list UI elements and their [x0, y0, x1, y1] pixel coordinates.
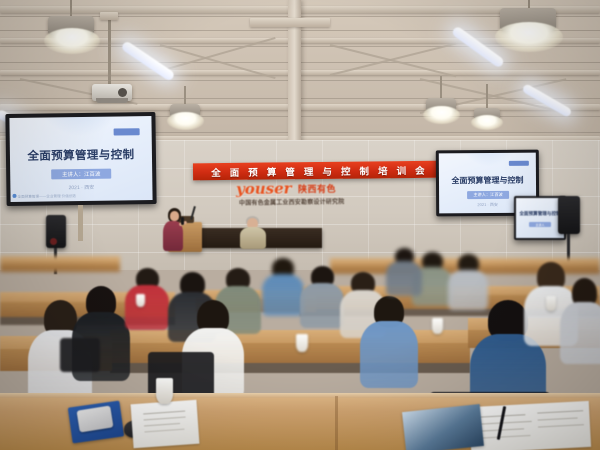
banner-headline: 全 面 预 算 管 理 与 控 制 培 训 会: [211, 162, 428, 178]
attendee-torso: [386, 261, 422, 296]
attendee-torso: [262, 274, 304, 316]
attendee: [300, 266, 344, 328]
attendee-torso: [300, 283, 344, 328]
slide-bullet-icon: [12, 194, 16, 198]
attendee-torso: [560, 302, 600, 364]
attendee-torso: [448, 270, 488, 310]
projection-screen: 全面预算管理与控制 主讲人：江百波 2021 · 西安 全面预算管理——企业管理…: [5, 112, 156, 206]
open-notebook: [469, 401, 591, 450]
slide-presenter-band: 主讲人：江百波: [51, 169, 111, 180]
paper-cup: [546, 296, 556, 311]
slide-presenter-band: 主讲人：江百波: [467, 191, 509, 199]
institute-name: 中国有色金属工业西安勘察设计研究院: [239, 197, 345, 207]
attendee-torso: [125, 285, 169, 330]
slide-title: 全面预算管理与控制: [439, 175, 536, 187]
slide-date: 2021 · 西安: [10, 183, 152, 192]
paper-cup: [156, 378, 173, 404]
attendee: [262, 258, 304, 316]
attendee: [448, 254, 488, 310]
screen-support-pole: [78, 205, 83, 241]
attendee: [386, 248, 422, 296]
attendee: [125, 268, 169, 330]
slide-title: 全面预算管理与控制: [10, 146, 152, 164]
event-banner: 全 面 预 算 管 理 与 控 制 培 训 会: [193, 161, 446, 181]
paper-cup: [296, 334, 308, 352]
slide-presenter-band: 主讲人: [529, 222, 551, 227]
institute-line-wrap: 中国有色金属工业西安勘察设计研究院: [239, 196, 379, 208]
handheld-microphone: [181, 217, 184, 225]
paper-cup: [432, 318, 443, 334]
youser-wordmark: youser: [236, 179, 292, 198]
handout-paper: [131, 400, 200, 448]
slide-footer: 全面预算管理——企业管理 价值创造: [17, 194, 76, 200]
chair: [60, 338, 100, 372]
attendee: [360, 296, 418, 388]
brand-cn-label: 陕西有色: [298, 182, 336, 196]
brochure: [402, 404, 484, 450]
slide-logo-icon: [509, 161, 529, 166]
attendee-torso: [360, 321, 418, 388]
slide-logo-icon: [114, 128, 140, 135]
slide-title: 全面预算管理与控制: [516, 211, 564, 217]
brand-lockup: youser 陕西有色: [236, 179, 406, 197]
paper-cup: [136, 294, 145, 307]
seminar-photo: 全 面 预 算 管 理 与 控 制 培 训 会 youser 陕西有色 中国有色…: [0, 0, 600, 450]
attendee: [560, 278, 600, 364]
